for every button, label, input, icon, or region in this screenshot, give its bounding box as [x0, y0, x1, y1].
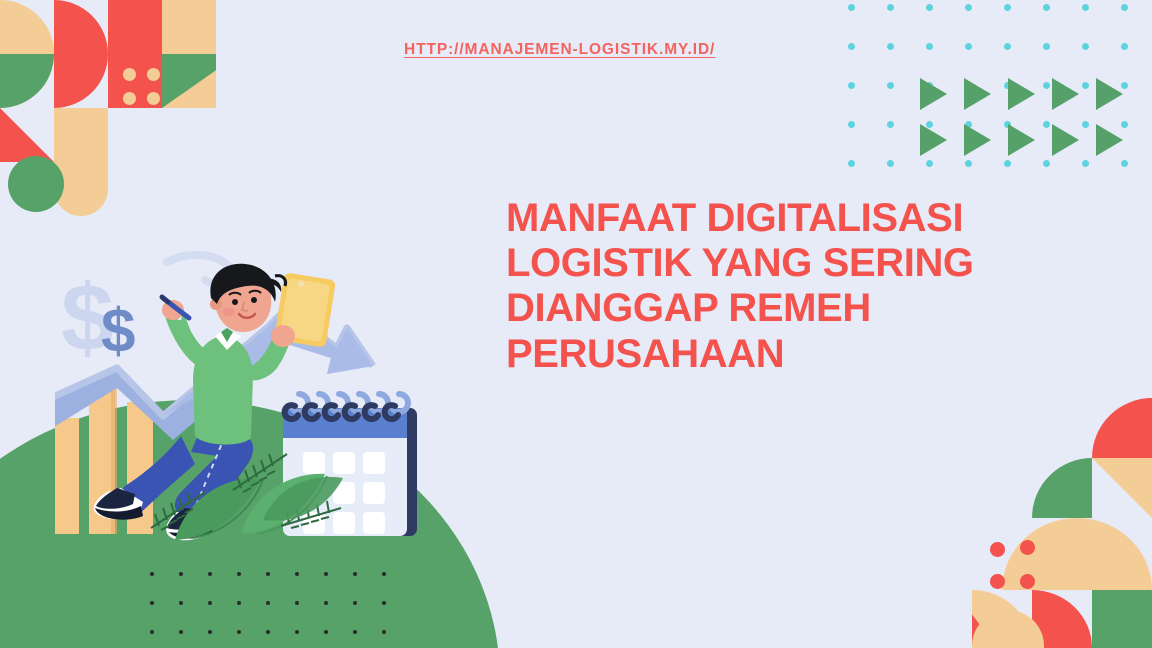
- dollar-sign-small: $: [101, 297, 135, 366]
- triangle-right-icon: [964, 78, 991, 110]
- decor-dot: [382, 572, 386, 576]
- decor-dot: [965, 43, 972, 50]
- pattern-top-left: [0, 0, 216, 216]
- decor-dot: [295, 572, 299, 576]
- decor-dot: [295, 630, 299, 634]
- pattern-dot: [147, 68, 160, 81]
- decor-dot: [382, 630, 386, 634]
- pattern-dot: [1020, 540, 1035, 555]
- arrow-cluster-top-right: [920, 78, 1123, 170]
- decor-dot: [324, 630, 328, 634]
- decor-dot: [1121, 4, 1128, 11]
- decor-dot: [1043, 4, 1050, 11]
- decor-dot: [1004, 4, 1011, 11]
- headline-line: DIANGGAP REMEH: [506, 286, 1026, 331]
- triangle-right-icon: [1008, 78, 1035, 110]
- illustration-businessman-growth: $ $: [55, 240, 475, 560]
- decor-dot: [926, 43, 933, 50]
- decor-dot: [353, 630, 357, 634]
- decor-dot: [179, 601, 183, 605]
- decor-dot: [848, 43, 855, 50]
- triangle-right-icon: [920, 78, 947, 110]
- decor-dot: [324, 572, 328, 576]
- headline-line: PERUSAHAAN: [506, 332, 1026, 377]
- decor-dot: [266, 572, 270, 576]
- page-title: MANFAAT DIGITALISASI LOGISTIK YANG SERIN…: [506, 196, 1026, 377]
- decor-dot: [150, 601, 154, 605]
- decor-dot: [208, 572, 212, 576]
- decor-dot: [179, 630, 183, 634]
- decor-dot: [179, 572, 183, 576]
- triangle-right-icon: [1052, 124, 1079, 156]
- pattern-dot: [1020, 574, 1035, 589]
- decor-dot: [1004, 43, 1011, 50]
- pattern-dot: [123, 92, 136, 105]
- site-url-link[interactable]: HTTP://MANAJEMEN-LOGISTIK.MY.ID/: [404, 41, 715, 59]
- decor-dot: [382, 601, 386, 605]
- decor-dot: [266, 630, 270, 634]
- decor-dot: [926, 4, 933, 11]
- triangle-right-icon: [1096, 124, 1123, 156]
- pattern-shape: [0, 108, 54, 162]
- pattern-shape: [1092, 590, 1152, 648]
- triangle-right-icon: [964, 124, 991, 156]
- decor-dot: [887, 160, 894, 167]
- decor-dot: [208, 630, 212, 634]
- decor-dot: [237, 630, 241, 634]
- pattern-shape: [0, 54, 54, 108]
- decor-dot: [353, 601, 357, 605]
- decor-dot: [887, 82, 894, 89]
- triangle-right-icon: [920, 124, 947, 156]
- decor-dot: [1082, 43, 1089, 50]
- decor-dot: [150, 630, 154, 634]
- triangle-right-icon: [1052, 78, 1079, 110]
- decor-dot: [237, 572, 241, 576]
- decor-dot: [1082, 4, 1089, 11]
- decor-dot: [237, 601, 241, 605]
- slide-canvas: $ $: [0, 0, 1152, 648]
- arrow-row: [920, 124, 1123, 156]
- decor-dot: [848, 4, 855, 11]
- pattern-shape: [1092, 398, 1152, 458]
- decor-dot: [848, 160, 855, 167]
- pattern-dot: [990, 542, 1005, 557]
- decor-dot: [887, 4, 894, 11]
- decor-dot: [266, 601, 270, 605]
- decor-dot: [887, 43, 894, 50]
- hill-dot-grid: [150, 572, 400, 648]
- hand-right: [271, 325, 295, 347]
- decor-dot: [324, 601, 328, 605]
- triangle-right-icon: [1096, 78, 1123, 110]
- decor-dot: [1121, 43, 1128, 50]
- pattern-dot: [147, 92, 160, 105]
- pattern-shape: [54, 108, 108, 216]
- decor-dot: [1043, 43, 1050, 50]
- pattern-shape: [162, 0, 216, 54]
- decor-dot: [965, 4, 972, 11]
- decor-dot: [150, 572, 154, 576]
- decor-dot: [208, 601, 212, 605]
- pattern-shape: [8, 156, 64, 212]
- decor-dot: [848, 121, 855, 128]
- headline-line: LOGISTIK YANG SERING: [506, 241, 1026, 286]
- decor-dot: [887, 121, 894, 128]
- decor-dot: [848, 82, 855, 89]
- decor-dot: [295, 601, 299, 605]
- svg-text:$: $: [101, 297, 135, 366]
- pattern-dot: [990, 574, 1005, 589]
- decor-dot: [353, 572, 357, 576]
- pattern-shape: [1032, 458, 1092, 518]
- headline-line: MANFAAT DIGITALISASI: [506, 196, 1026, 241]
- triangle-right-icon: [1008, 124, 1035, 156]
- pattern-dot: [123, 68, 136, 81]
- arrow-row: [920, 78, 1123, 110]
